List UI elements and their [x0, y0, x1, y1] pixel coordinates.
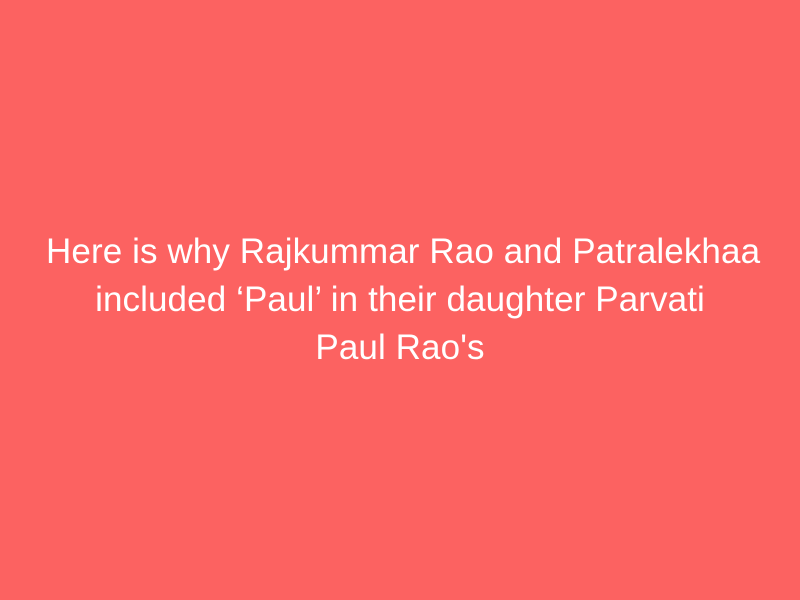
headline-text: Here is why Rajkummar Rao and Patralekha… — [0, 228, 800, 372]
headline-line-2: included ‘Paul’ in their daughter Parvat… — [46, 276, 754, 324]
article-headline-card: Here is why Rajkummar Rao and Patralekha… — [0, 0, 800, 600]
headline-line-1: Here is why Rajkummar Rao and Patralekha… — [46, 228, 754, 276]
headline-line-3: Paul Rao's — [46, 324, 754, 372]
